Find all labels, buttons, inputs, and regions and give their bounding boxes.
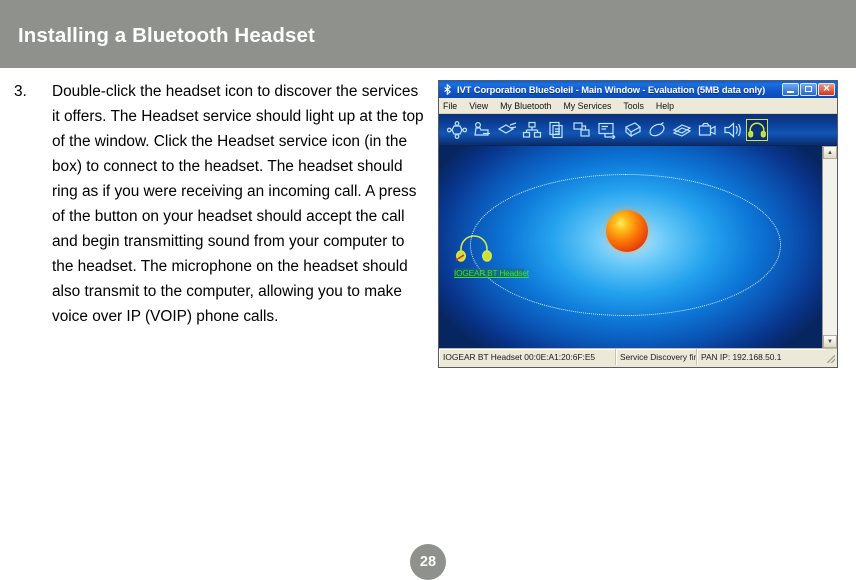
scroll-down-arrow[interactable]: ▼ [823,335,837,348]
window-service-toolbar [439,114,837,146]
personal-area-network-icon[interactable] [571,119,593,141]
window-menubar: File View My Bluetooth My Services Tools… [439,98,837,114]
scroll-up-arrow[interactable]: ▲ [823,146,837,159]
object-push-icon[interactable] [671,119,693,141]
page-number-badge: 28 [410,544,446,580]
window-title-text: IVT Corporation BlueSoleil - Main Window… [457,84,765,95]
window-main-viewport[interactable]: IOGEAR BT Headset ▲ ▼ [439,146,837,348]
bluetooth-space-background: IOGEAR BT Headset [439,146,823,348]
minimize-button[interactable] [782,83,799,96]
instruction-text: Double-click the headset icon to discove… [52,79,424,329]
remote-device-label[interactable]: IOGEAR BT Headset [454,268,524,278]
window-titlebar: IVT Corporation BlueSoleil - Main Window… [439,81,837,98]
menu-item-my-bluetooth[interactable]: My Bluetooth [500,101,551,111]
headset-device-icon[interactable] [454,251,494,268]
page-header-band: Installing a Bluetooth Headset [0,0,856,68]
fax-icon[interactable] [471,119,493,141]
status-message: Service Discovery finished. [616,349,697,365]
printer-icon[interactable] [621,119,643,141]
menu-item-my-services[interactable]: My Services [563,101,611,111]
bluetooth-icon [442,84,453,95]
serial-port-icon[interactable] [646,119,668,141]
menu-item-tools[interactable]: Tools [623,101,644,111]
maximize-button[interactable] [800,83,817,96]
audio-gateway-icon[interactable] [721,119,743,141]
menu-item-help[interactable]: Help [656,101,674,111]
resize-grip[interactable] [825,349,837,365]
bluesoleil-screenshot-figure: IVT Corporation BlueSoleil - Main Window… [438,80,838,368]
dialup-networking-icon[interactable] [496,119,518,141]
bluetooth-network-icon[interactable] [446,119,468,141]
close-button[interactable] [818,83,835,96]
window-statusbar: IOGEAR BT Headset 00:0E:A1:20:6F:E5 Serv… [439,348,837,365]
headset-service-icon[interactable] [746,119,768,141]
local-bluetooth-sphere[interactable] [606,210,648,252]
information-sync-icon[interactable] [596,119,618,141]
status-device-info: IOGEAR BT Headset 00:0E:A1:20:6F:E5 [439,349,616,365]
lan-access-icon[interactable] [521,119,543,141]
file-transfer-icon[interactable] [546,119,568,141]
instruction-number: 3. [14,79,52,104]
status-network-info: PAN IP: 192.168.50.1 [697,349,825,365]
remote-device-headset[interactable]: IOGEAR BT Headset [454,234,524,278]
imaging-icon[interactable] [696,119,718,141]
window-control-buttons [782,83,835,96]
page-title: Installing a Bluetooth Headset [18,24,315,48]
main-vertical-scrollbar[interactable]: ▲ ▼ [822,146,837,348]
menu-item-file[interactable]: File [443,101,457,111]
instruction-step-3: 3. Double-click the headset icon to disc… [14,79,424,329]
menu-item-view[interactable]: View [469,101,488,111]
